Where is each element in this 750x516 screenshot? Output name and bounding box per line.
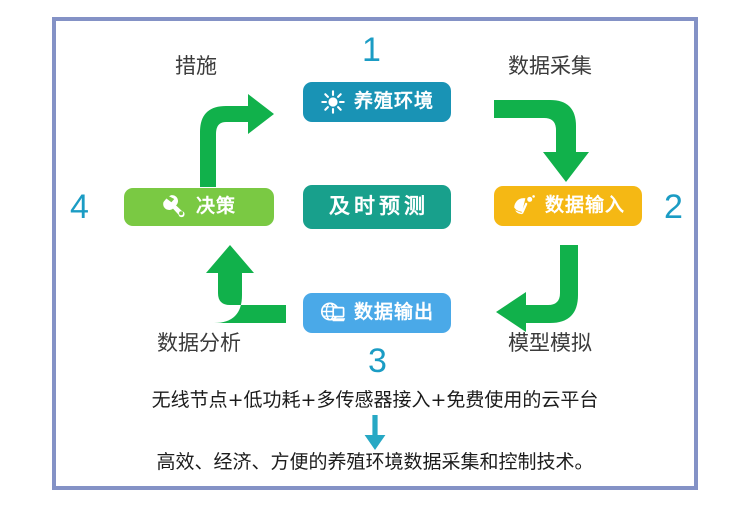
step-number-4: 4 [70,190,89,224]
outer-label-collect: 数据采集 [508,56,592,77]
arrow-output-to-decision [168,243,288,333]
node-label: 养殖环境 [354,92,434,112]
arrow-environment-to-input [492,96,607,191]
node-label: 及时预测 [325,196,429,218]
node-realtime-prediction[interactable]: 及时预测 [303,185,451,229]
arrow-input-to-output [492,243,607,333]
node-breeding-environment[interactable]: 养殖环境 [303,82,451,122]
node-data-input[interactable]: 数据输入 [494,186,642,226]
step-number-3: 3 [368,344,387,378]
node-data-output[interactable]: 数据输出 [303,293,451,333]
outer-label-model: 模型模拟 [508,333,592,354]
footer-line-1: 无线节点+低功耗+多传感器接入+免费使用的云平台 [0,391,750,410]
infographic-page: 1 2 3 4 措施 数据采集 数据分析 模型模拟 [0,0,750,516]
footer-line-2: 高效、经济、方便的养殖环境数据采集和控制技术。 [0,453,750,472]
sun-icon [320,89,346,115]
satellite-dish-icon [511,193,537,219]
down-arrow-icon [360,415,390,451]
outer-label-analysis: 数据分析 [157,333,241,354]
globe-computer-icon [320,300,346,326]
node-label: 数据输入 [545,196,625,216]
node-label: 决策 [196,197,236,217]
arrow-measure-to-environment [170,92,280,187]
node-label: 数据输出 [354,303,434,323]
step-number-1: 1 [362,33,381,67]
wrench-icon [162,194,188,220]
step-number-2: 2 [664,190,683,224]
node-decision[interactable]: 决策 [124,188,274,226]
outer-label-measure: 措施 [175,56,217,77]
